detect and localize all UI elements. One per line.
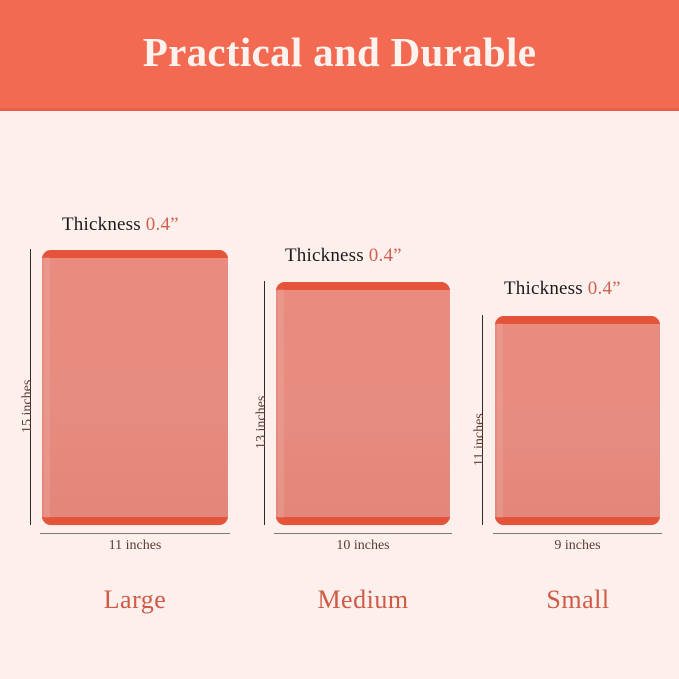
thickness-label-medium: Thickness 0.4” (285, 245, 402, 267)
height-label-medium: 13 inches (254, 396, 270, 449)
thickness-label-large: Thickness 0.4” (62, 214, 179, 236)
width-label-medium: 10 inches (274, 538, 452, 554)
thickness-value-medium: 0.4” (369, 245, 402, 266)
mat-sheen-medium (278, 289, 284, 518)
thickness-value-large: 0.4” (146, 214, 179, 235)
thickness-text-small: Thickness (504, 278, 583, 299)
size-name-medium: Medium (264, 585, 462, 615)
mat-bottom-edge-medium (276, 517, 450, 525)
mat-top-edge-large (42, 250, 228, 258)
size-comparison-diagram: Thickness 0.4” 15 inches 11 inches Large… (0, 111, 679, 679)
width-label-small: 9 inches (493, 538, 662, 554)
width-label-large: 11 inches (40, 538, 230, 554)
mat-bottom-edge-small (495, 517, 660, 525)
height-label-small: 11 inches (472, 413, 488, 466)
width-measure-line-small (493, 533, 662, 534)
thickness-text-medium: Thickness (285, 245, 364, 266)
width-measure-line-medium (274, 533, 452, 534)
height-label-large: 15 inches (20, 380, 36, 433)
mat-shape-large (42, 250, 228, 525)
page-title: Practical and Durable (143, 32, 536, 77)
mat-top-edge-small (495, 316, 660, 324)
thickness-text-large: Thickness (62, 214, 141, 235)
mat-shape-small (495, 316, 660, 525)
thickness-value-small: 0.4” (588, 278, 621, 299)
mat-face-medium (276, 288, 450, 519)
mat-face-small (495, 322, 660, 519)
mat-sheen-small (497, 323, 503, 518)
thickness-label-small: Thickness 0.4” (504, 278, 621, 300)
mat-face-large (42, 256, 228, 519)
mat-bottom-edge-large (42, 517, 228, 525)
mat-top-edge-medium (276, 282, 450, 290)
mat-sheen-large (44, 257, 50, 518)
size-name-small: Small (488, 585, 668, 615)
header-banner: Practical and Durable (0, 0, 679, 111)
width-measure-line-large (40, 533, 230, 534)
size-name-large: Large (40, 585, 230, 615)
mat-shape-medium (276, 282, 450, 525)
